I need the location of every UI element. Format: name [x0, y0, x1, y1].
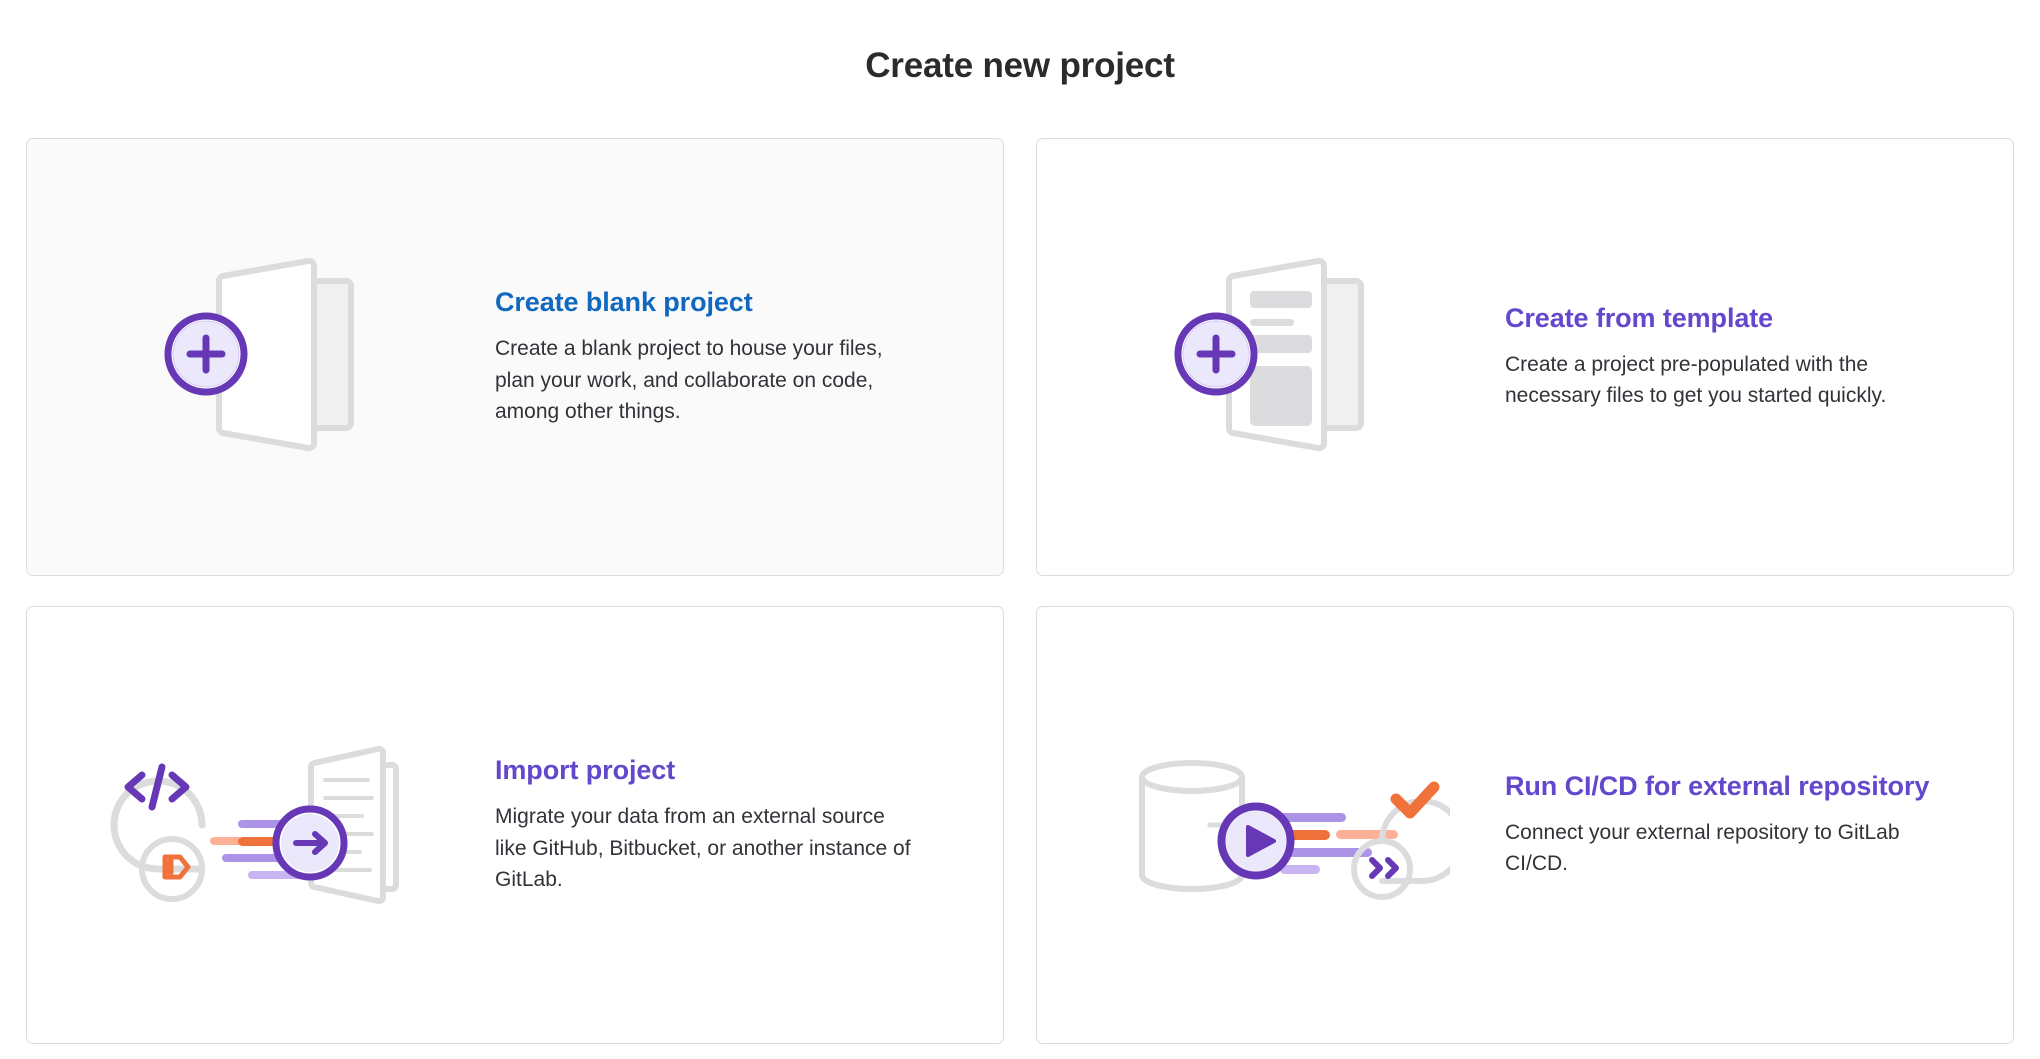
project-options-grid: Create blank project Create a blank proj… [26, 138, 2014, 1044]
card-body: Run CI/CD for external repository Connec… [1505, 770, 1985, 881]
card-description: Migrate your data from an external sourc… [495, 801, 915, 897]
card-title: Import project [495, 754, 951, 787]
card-title: Create from template [1505, 302, 1961, 335]
card-body: Create blank project Create a blank proj… [495, 286, 975, 429]
card-title: Create blank project [495, 286, 951, 319]
card-inner: Import project Migrate your data from an… [27, 695, 1003, 955]
card-inner: Create blank project Create a blank proj… [27, 227, 1003, 487]
card-run-cicd-external-repository[interactable]: Run CI/CD for external repository Connec… [1036, 606, 2014, 1044]
create-new-project-page: Create new project [0, 0, 2040, 1059]
card-create-blank-project[interactable]: Create blank project Create a blank proj… [26, 138, 1004, 576]
page-title: Create new project [0, 45, 2040, 87]
card-import-project[interactable]: Import project Migrate your data from an… [26, 606, 1004, 1044]
cicd-play-icon [1065, 695, 1505, 955]
card-inner: Run CI/CD for external repository Connec… [1037, 695, 2013, 955]
template-plus-icon [1065, 227, 1505, 487]
card-description: Create a blank project to house your fil… [495, 333, 905, 429]
card-description: Connect your external repository to GitL… [1505, 817, 1925, 881]
card-body: Create from template Create a project pr… [1505, 302, 1985, 413]
import-arrow-icon [55, 695, 495, 955]
card-title: Run CI/CD for external repository [1505, 770, 1961, 803]
card-create-from-template[interactable]: Create from template Create a project pr… [1036, 138, 2014, 576]
card-body: Import project Migrate your data from an… [495, 754, 975, 897]
card-description: Create a project pre-populated with the … [1505, 349, 1925, 413]
card-inner: Create from template Create a project pr… [1037, 227, 2013, 487]
folder-plus-icon [55, 227, 495, 487]
